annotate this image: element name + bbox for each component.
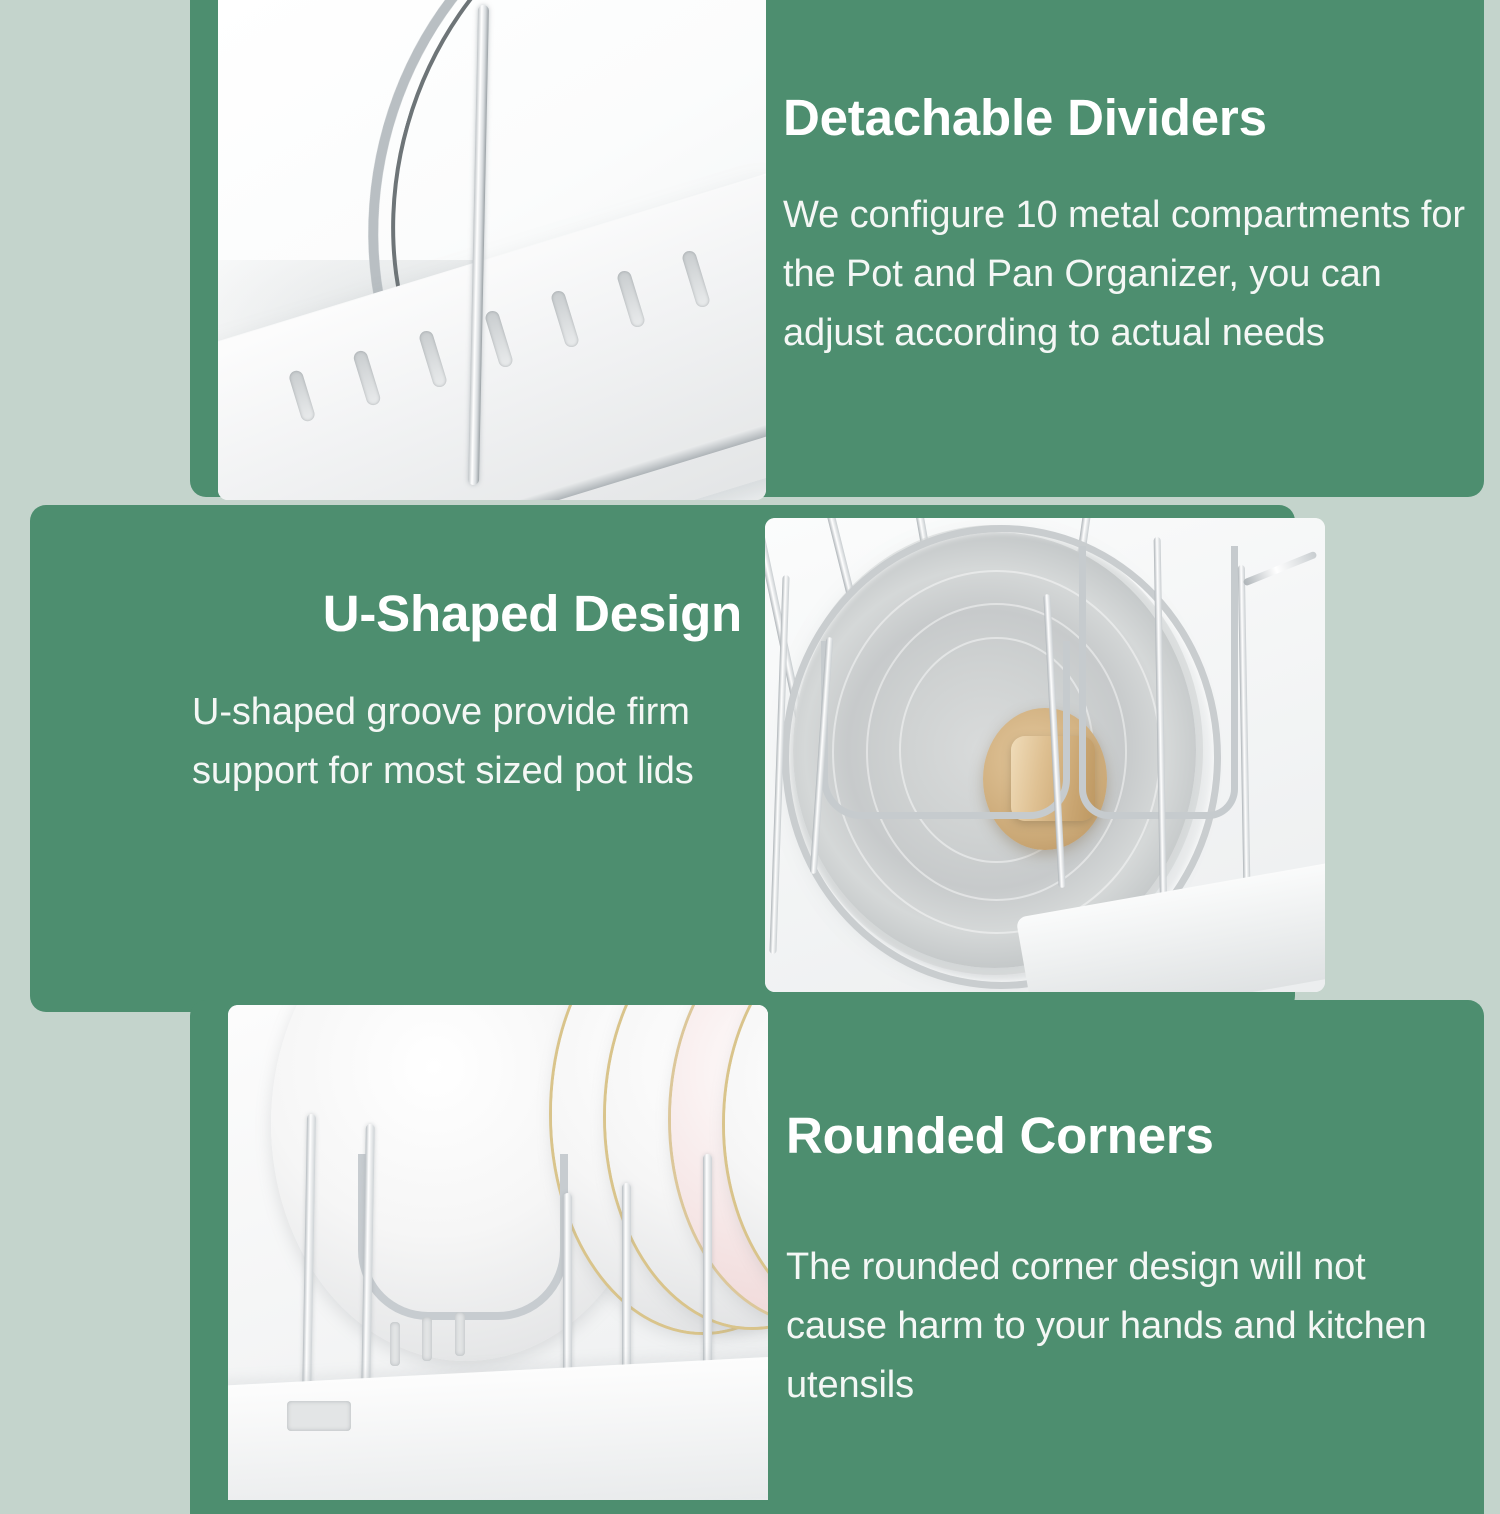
feature-body-rounded-corners: The rounded corner design will not cause… <box>786 1238 1476 1415</box>
feature-image-u-shaped-design <box>765 518 1325 992</box>
feature-image-rounded-corners <box>228 1005 768 1500</box>
feature-image-detachable-dividers <box>218 0 766 500</box>
feature-body-detachable-dividers: We configure 10 metal compartments for t… <box>783 186 1483 363</box>
infographic-stage: Detachable Dividers We configure 10 meta… <box>0 0 1500 1500</box>
feature-heading-detachable-dividers: Detachable Dividers <box>783 92 1267 143</box>
feature-heading-u-shaped-design: U-Shaped Design <box>0 588 742 639</box>
feature-body-u-shaped-design: U-shaped groove provide firm support for… <box>192 683 742 801</box>
feature-heading-rounded-corners: Rounded Corners <box>786 1110 1214 1161</box>
